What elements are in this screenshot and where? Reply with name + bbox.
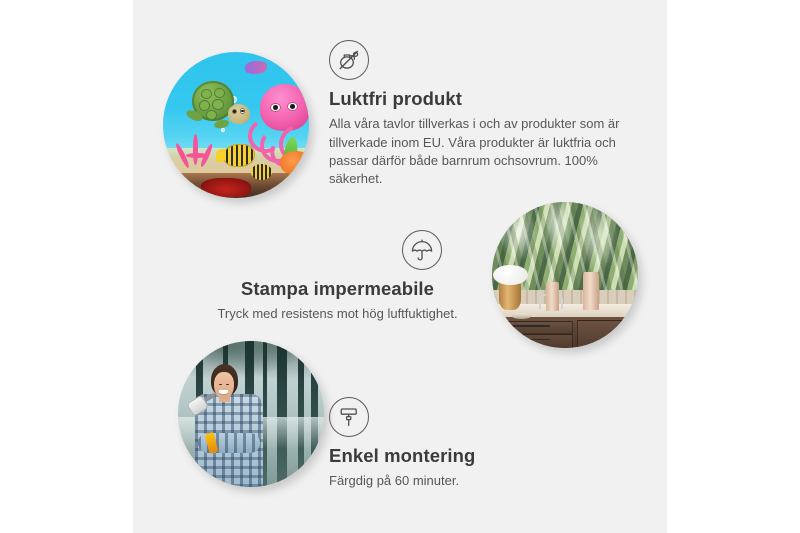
pink-coral-icon — [176, 134, 220, 178]
sea-turtle-icon — [183, 80, 247, 135]
icon-wrapper — [205, 230, 470, 270]
crab-icon — [280, 151, 309, 174]
turtle-eye — [240, 108, 245, 114]
octopus-eye — [270, 103, 281, 112]
bathroom-scene — [492, 202, 638, 348]
drawer-handle — [512, 339, 550, 340]
octopus-icon — [251, 84, 309, 160]
feature-title: Stampa impermeabile — [205, 277, 470, 300]
umbrella-icon — [402, 230, 442, 270]
paint-roller-icon — [329, 397, 369, 437]
coral-branch — [193, 134, 199, 166]
octopus-eye — [287, 102, 298, 111]
drawer-handle — [512, 325, 550, 326]
feature-body: Färgdig på 60 minuter. — [329, 472, 609, 490]
face — [214, 372, 234, 399]
feature-image-bathroom-botanical-wallpaper — [492, 202, 638, 348]
feature-title: Enkel montering — [329, 444, 609, 467]
purple-fish-icon — [245, 61, 267, 74]
feature-block-waterproof-print: Stampa impermeabile Tryck med resistens … — [205, 230, 470, 324]
underwater-scene — [163, 52, 309, 198]
cabinet-drawer — [501, 321, 573, 334]
soap-dish — [512, 313, 531, 319]
feature-block-easy-installation: Enkel montering Färgdig på 60 minuter. — [329, 397, 609, 491]
page-root: Luktfri produkt Alla våra tavlor tillver… — [0, 0, 800, 533]
eye — [219, 384, 222, 386]
turtle-scute — [199, 100, 211, 111]
feature-title: Luktfri produkt — [329, 87, 629, 110]
turtle-scute — [214, 88, 225, 99]
soap-dispenser — [546, 282, 559, 311]
soap-dispenser — [583, 272, 599, 310]
woman-figure — [190, 364, 278, 487]
door-handle — [620, 323, 624, 338]
turtle-eye — [232, 109, 237, 115]
smile — [219, 390, 228, 394]
vanity-cabinet — [492, 317, 638, 348]
forest-portrait-scene — [178, 341, 324, 487]
sea-red-rock — [201, 178, 251, 197]
turtle-scute — [206, 110, 217, 119]
feature-body: Alla våra tavlor tillverkas i och av pro… — [329, 115, 629, 189]
feature-block-odour-free: Luktfri produkt Alla våra tavlor tillver… — [329, 40, 629, 189]
feature-image-woman-with-paint-roller-forest — [178, 341, 324, 487]
turtle-head — [228, 104, 250, 124]
cabinet-drawer — [501, 334, 573, 348]
feature-image-underwater-kids-scene — [163, 52, 309, 198]
no-fragrance-bottle-icon — [329, 40, 369, 80]
feature-body: Tryck med resistens mot hög luftfuktighe… — [205, 305, 470, 323]
eye — [226, 384, 229, 386]
